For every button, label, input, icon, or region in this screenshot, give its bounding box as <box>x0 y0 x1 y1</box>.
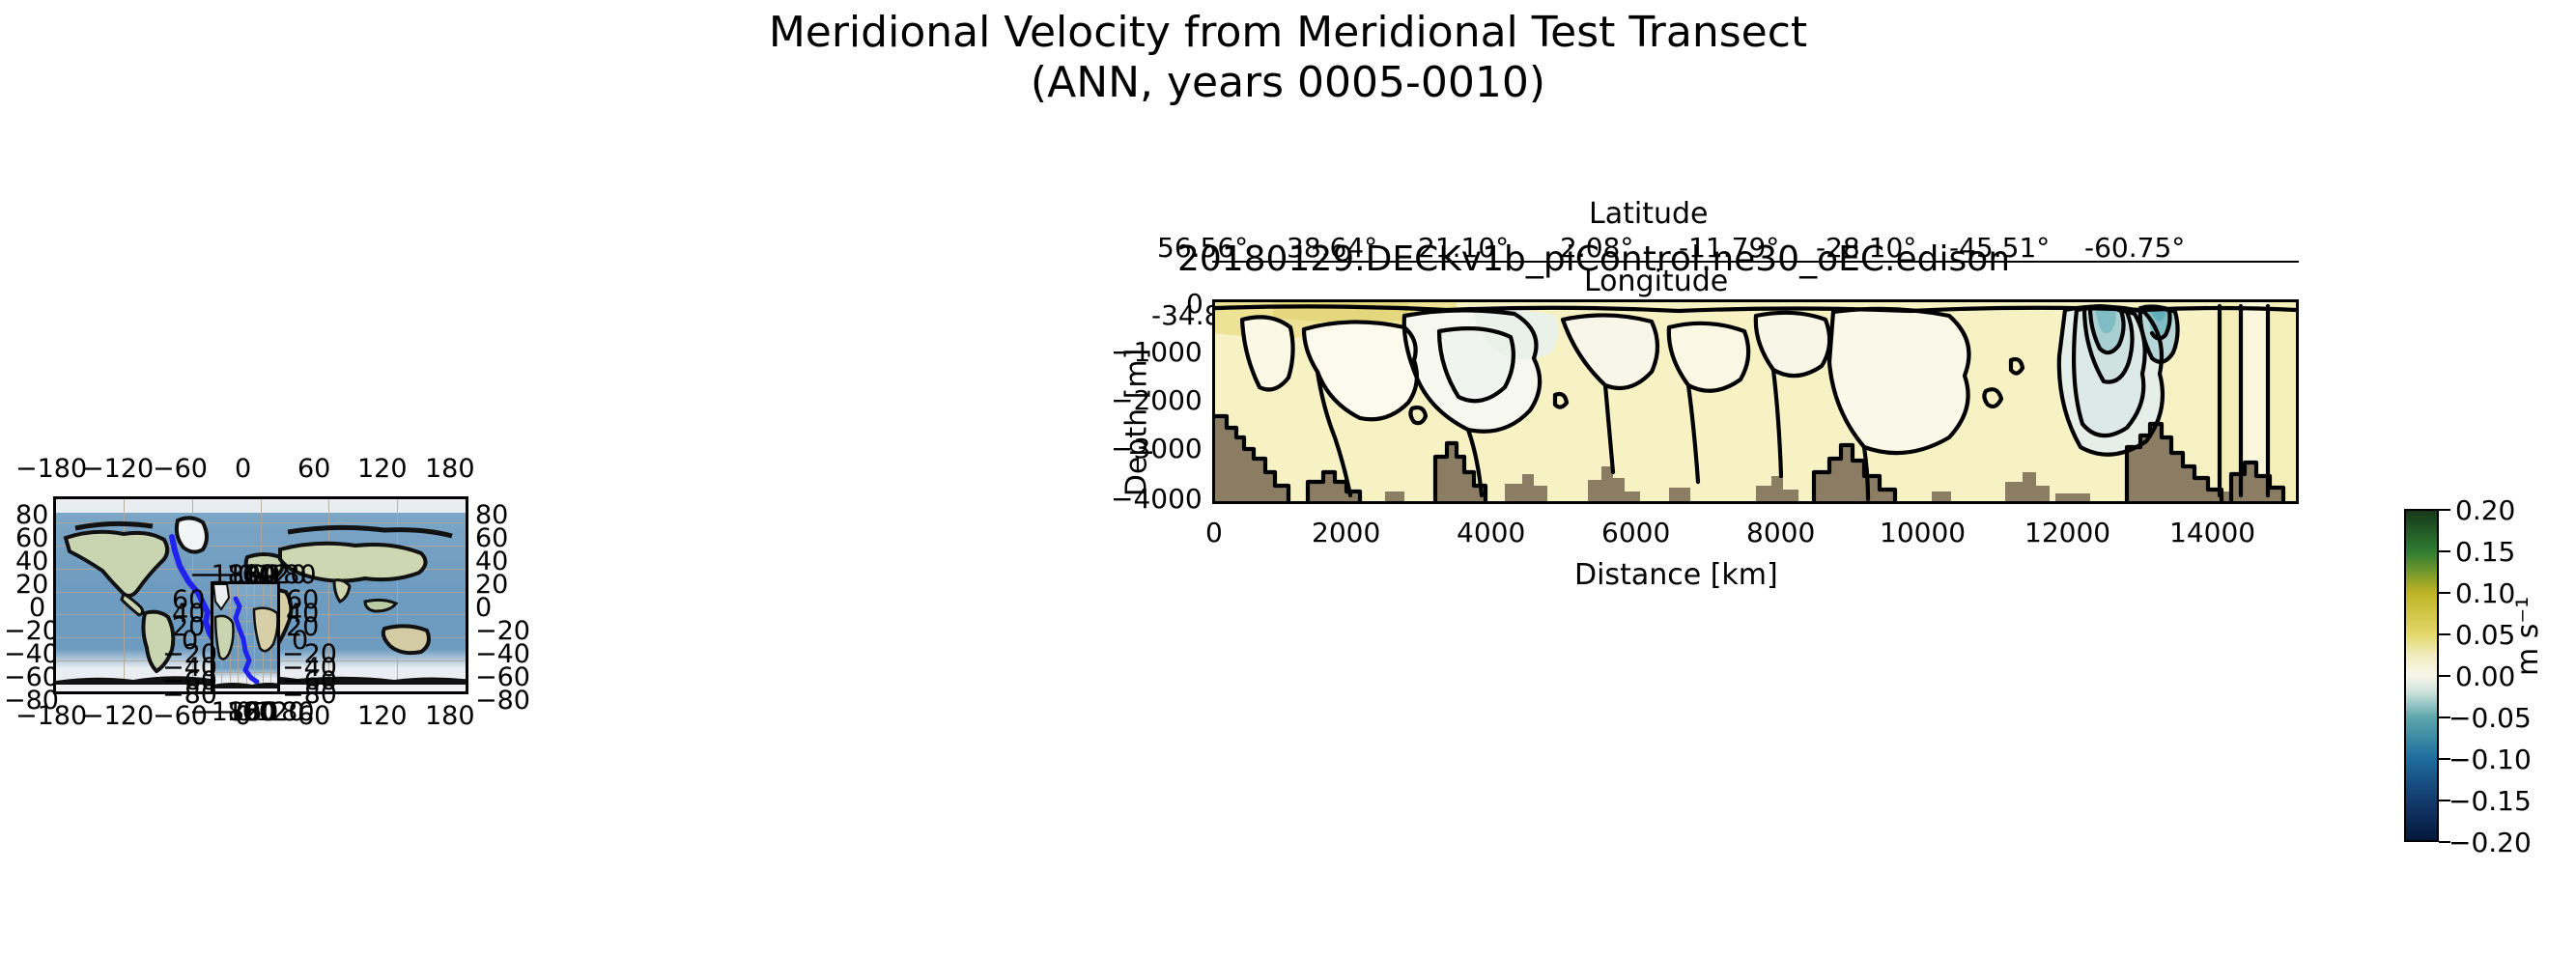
x-tick-5: 10000 <box>1880 517 1966 548</box>
map-lon-tick-top-3: 0 <box>235 454 251 484</box>
x-tick-0: 0 <box>1205 517 1223 548</box>
page-title: Meridional Velocity from Meridional Test… <box>0 8 2576 108</box>
world-map-inset-axes <box>211 581 280 694</box>
y-tick-4: −4000 <box>1111 483 1203 515</box>
map-lon-tick-top-2: −60 <box>153 454 208 484</box>
lat-tick-6: -45.51° <box>1949 232 2050 264</box>
map-lon-tick-top-5: 120 <box>357 454 408 484</box>
cbar-tick-7: −0.15 <box>2449 785 2532 817</box>
lat-tick-1: 38.64° <box>1287 232 1377 264</box>
coastline-overlay-inset <box>213 584 280 694</box>
cbar-tick-5: −0.05 <box>2449 702 2532 734</box>
x-tick-6: 12000 <box>2024 517 2110 548</box>
map-lon-tick-bot-1: −120 <box>82 701 154 731</box>
y-tick-0: 0 <box>1186 288 1203 320</box>
lat-tick-3: 2.08° <box>1560 232 1633 264</box>
map-lon-tick-bot-6: 180 <box>425 701 475 731</box>
cbar-tick-4: 0.00 <box>2455 660 2515 692</box>
cbar-tick-3: 0.05 <box>2455 619 2515 651</box>
lat-tick-4: -11.79° <box>1679 232 1779 264</box>
inset-lat-tick-r-7: −80 <box>282 680 337 710</box>
contour-field <box>1215 302 2296 501</box>
x-tick-1: 2000 <box>1312 517 1380 548</box>
lat-tick-7: -60.75° <box>2084 232 2185 264</box>
x-tick-4: 8000 <box>1746 517 1815 548</box>
map-lon-tick-bot-5: 120 <box>357 701 408 731</box>
cbar-tick-6: −0.10 <box>2449 744 2532 775</box>
lat-tick-0: 56.56° <box>1157 232 1248 264</box>
lat-tick-2: 21.10° <box>1418 232 1509 264</box>
x-tick-2: 4000 <box>1457 517 1525 548</box>
colorbar <box>2404 509 2439 842</box>
cross-section-axes <box>1212 299 2299 504</box>
y-tick-1: −1000 <box>1111 336 1203 368</box>
transect-cross-section-panel: Latitude 56.56° 38.64° 21.10° 2.08° -11.… <box>1101 183 2386 917</box>
map-lon-tick-top-0: −180 <box>15 454 87 484</box>
map-lat-tick-l-8: −80 <box>4 686 59 716</box>
world-map-panel: −180 −120 −60 0 60 120 180 −180 −120 −60… <box>0 454 831 937</box>
colorbar-unit-label: m s⁻¹ <box>2511 597 2545 676</box>
latitude-axis-label: Latitude <box>1589 197 1708 231</box>
depth-axis-label: Depth [m] <box>1119 349 1153 497</box>
y-tick-3: −3000 <box>1111 433 1203 464</box>
latitude-axis-rule <box>1212 261 2299 263</box>
longitude-axis-label: Longitude <box>1584 265 1728 298</box>
inset-lat-tick-l-7: −80 <box>162 680 217 710</box>
x-tick-3: 6000 <box>1601 517 1670 548</box>
map-lon-tick-top-1: −120 <box>82 454 154 484</box>
cbar-tick-1: 0.15 <box>2455 536 2515 568</box>
map-lon-tick-top-4: 60 <box>297 454 330 484</box>
cbar-tick-0: 0.20 <box>2455 494 2515 526</box>
lat-tick-5: -28.10° <box>1816 232 1916 264</box>
distance-axis-label: Distance [km] <box>1574 558 1778 592</box>
cbar-tick-8: −0.20 <box>2449 827 2532 858</box>
x-tick-7: 14000 <box>2169 517 2255 548</box>
y-tick-2: −2000 <box>1111 384 1203 416</box>
cbar-tick-2: 0.10 <box>2455 577 2515 609</box>
map-lon-tick-top-6: 180 <box>425 454 475 484</box>
map-lat-tick-r-8: −80 <box>475 686 530 716</box>
